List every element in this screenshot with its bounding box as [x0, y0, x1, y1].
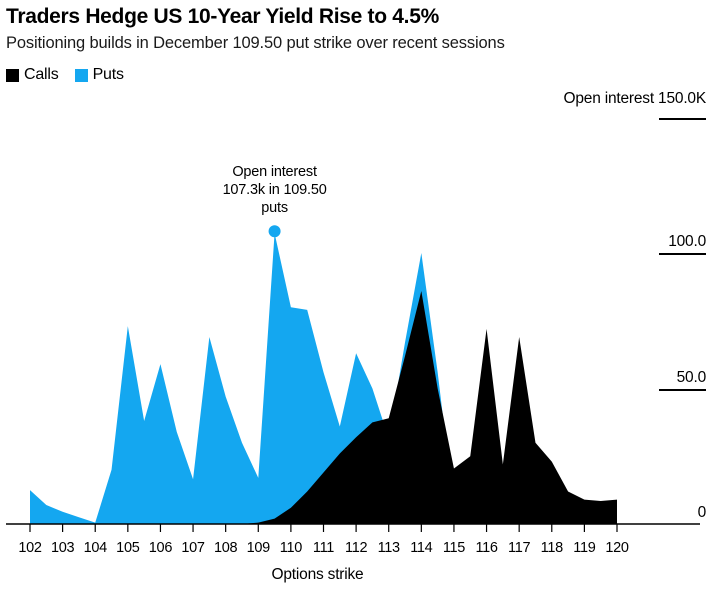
- x-tick-label: 111: [313, 540, 334, 556]
- x-tick-label: 115: [443, 540, 465, 556]
- x-tick-label: 114: [410, 540, 432, 556]
- x-tick-label: 107: [181, 540, 204, 556]
- legend-item-puts[interactable]: Puts: [75, 66, 124, 84]
- x-tick-label: 112: [345, 540, 367, 556]
- x-tick-label: 119: [573, 540, 595, 556]
- x-tick-label: 104: [84, 540, 107, 556]
- x-tick-label: 118: [541, 540, 563, 556]
- x-tick-label: 106: [149, 540, 172, 556]
- x-tick-label: 109: [247, 540, 270, 556]
- annotation-marker-dot: [269, 225, 281, 237]
- page-title: Traders Hedge US 10-Year Yield Rise to 4…: [6, 4, 686, 30]
- legend-swatch-calls: [6, 69, 19, 82]
- legend-swatch-puts: [75, 69, 88, 82]
- chart-annotation: Open interest 107.3k in 109.50 puts: [185, 163, 365, 217]
- x-tick-label: 102: [18, 540, 41, 556]
- x-tick-label: 103: [51, 540, 74, 556]
- x-axis-title: Options strike: [0, 566, 635, 584]
- legend-label-puts: Puts: [93, 66, 124, 84]
- x-tick-label: 117: [508, 540, 530, 556]
- legend-item-calls[interactable]: Calls: [6, 66, 59, 84]
- chart-root: Traders Hedge US 10-Year Yield Rise to 4…: [0, 0, 712, 591]
- x-tick-label: 120: [605, 540, 628, 556]
- legend-label-calls: Calls: [24, 66, 59, 84]
- x-tick-label: 116: [475, 540, 497, 556]
- x-axis-tick-labels: 1021031041051061071081091101111121131141…: [0, 540, 712, 564]
- x-tick-label: 110: [280, 540, 302, 556]
- chart-legend: Calls Puts: [6, 66, 124, 84]
- x-axis-ticks: [30, 524, 617, 532]
- x-tick-label: 105: [116, 540, 139, 556]
- x-tick-label: 108: [214, 540, 237, 556]
- page-subtitle: Positioning builds in December 109.50 pu…: [6, 33, 696, 53]
- x-tick-label: 113: [378, 540, 400, 556]
